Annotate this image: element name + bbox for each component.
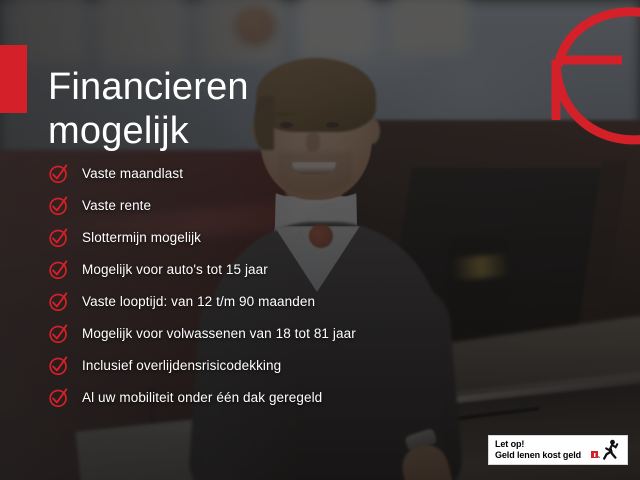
walking-person-icon [601,439,621,461]
check-circle-icon [48,387,82,409]
check-circle-icon [48,291,82,313]
circular-arrow-icon [526,0,640,148]
check-circle-icon [48,227,82,249]
list-item: Vaste maandlast [48,158,468,190]
status-badge: Let op! Geld lenen kost geld [488,435,628,465]
list-item: Vaste looptijd: van 12 t/m 90 maanden [48,286,468,318]
feature-list: Vaste maandlastVaste renteSlottermijn mo… [48,158,468,414]
warning-line-1: Let op! [495,439,589,450]
red-square-accent [0,45,27,113]
list-item-label: Mogelijk voor auto's tot 15 jaar [82,262,268,278]
list-item: Vaste rente [48,190,468,222]
warning-text: Let op! Geld lenen kost geld [495,439,589,461]
list-item: Mogelijk voor auto's tot 15 jaar [48,254,468,286]
red-flag-icon [591,446,600,454]
check-circle-icon [48,195,82,217]
list-item: Al uw mobiliteit onder één dak geregeld [48,382,468,414]
warning-line-2: Geld lenen kost geld [495,450,589,461]
headline-line-1: Financieren [48,66,249,108]
list-item-label: Slottermijn mogelijk [82,230,201,246]
check-circle-icon [48,259,82,281]
promo-banner: AD [0,0,640,480]
list-item-label: Vaste looptijd: van 12 t/m 90 maanden [82,294,315,310]
list-item: Mogelijk voor volwassenen van 18 tot 81 … [48,318,468,350]
list-item-label: Inclusief overlijdensrisicodekking [82,358,281,374]
list-item: Slottermijn mogelijk [48,222,468,254]
check-circle-icon [48,163,82,185]
list-item-label: Al uw mobiliteit onder één dak geregeld [82,390,322,406]
page-title: Financieren mogelijk [48,65,348,153]
list-item-label: Vaste maandlast [82,166,183,182]
list-item-label: Mogelijk voor volwassenen van 18 tot 81 … [82,326,356,342]
check-circle-icon [48,323,82,345]
list-item: Inclusief overlijdensrisicodekking [48,350,468,382]
check-circle-icon [48,355,82,377]
list-item-label: Vaste rente [82,198,151,214]
headline-line-2: mogelijk [48,109,348,153]
